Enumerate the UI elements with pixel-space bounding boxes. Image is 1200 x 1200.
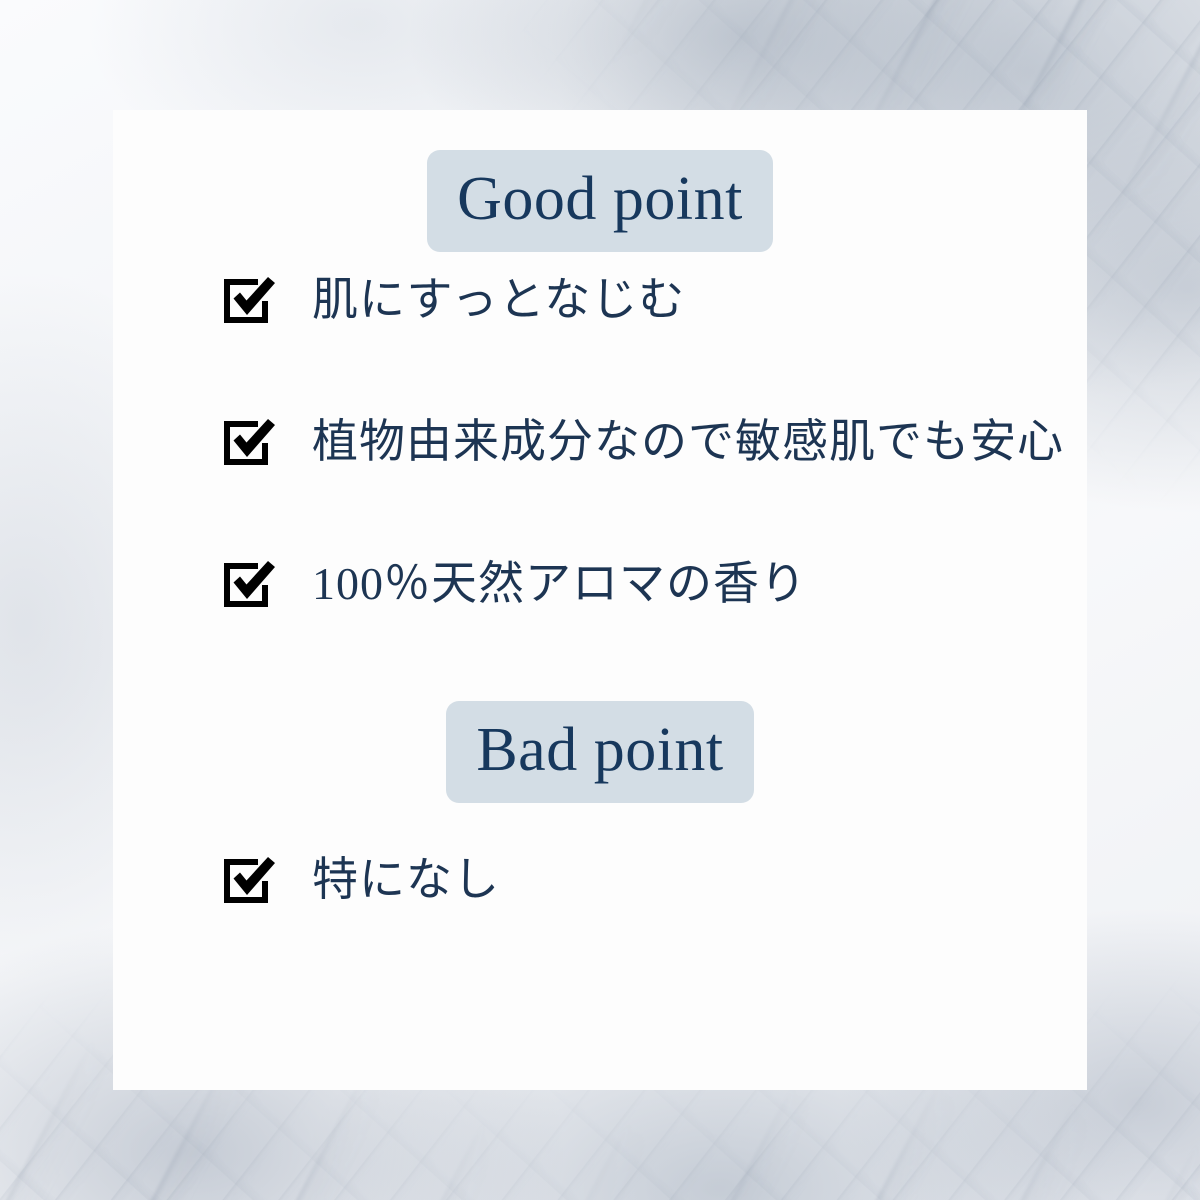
- good-point-heading-badge: Good point: [427, 150, 773, 252]
- list-item: 肌にすっとなじむ: [113, 268, 1087, 332]
- bad-point-heading-badge: Bad point: [446, 701, 753, 803]
- list-item: 植物由来成分なので敏感肌でも安心: [113, 410, 1087, 474]
- checkbox-checked-icon: [222, 417, 272, 467]
- good-point-list: 肌にすっとなじむ 植物由来成分なので敏感肌でも安心: [113, 268, 1087, 616]
- checkbox-checked-icon: [222, 559, 272, 609]
- list-item-label: 植物由来成分なので敏感肌でも安心: [312, 419, 1064, 465]
- checkbox-checked-icon: [222, 275, 272, 325]
- content-card: Good point 肌にすっとなじむ: [113, 110, 1087, 1090]
- checkbox-checked-icon: [222, 855, 272, 905]
- list-item: 特になし: [113, 848, 1087, 912]
- list-item-label: 特になし: [312, 857, 500, 903]
- list-item: 100％天然アロマの香り: [113, 552, 1087, 616]
- poster-canvas: Good point 肌にすっとなじむ: [0, 0, 1200, 1200]
- good-point-heading-row: Good point: [113, 150, 1087, 252]
- list-item-label: 肌にすっとなじむ: [312, 277, 685, 323]
- list-item-label: 100％天然アロマの香り: [312, 561, 807, 607]
- bad-point-list: 特になし: [113, 848, 1087, 912]
- bad-point-heading-row: Bad point: [113, 701, 1087, 803]
